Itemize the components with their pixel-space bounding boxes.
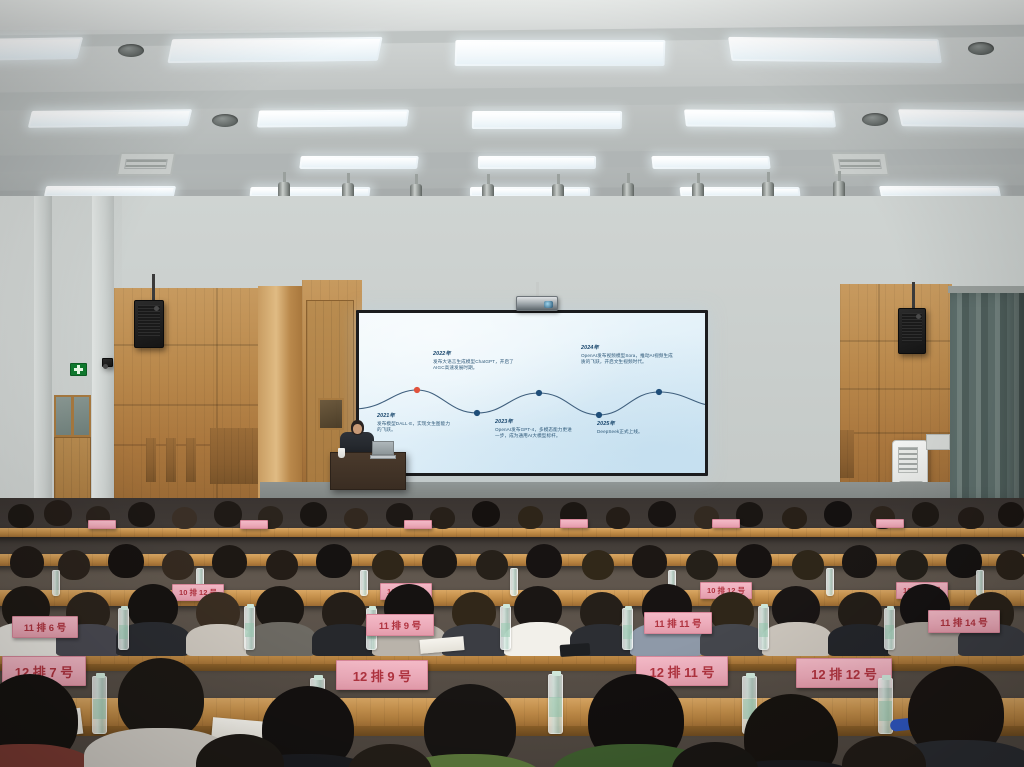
timeline-label-2025: 2025年 DeepSeek正式上线。 [597,421,677,435]
audience-head [214,501,242,527]
audience-head [266,550,298,580]
audience-head [212,545,247,578]
desk-phone [560,643,591,657]
water-bottle [510,568,518,596]
wall-speaker [898,308,926,354]
ceiling-light-panel [651,156,770,169]
audience-head [476,550,508,580]
audience-head [648,501,676,527]
ceiling-light-panel [728,37,942,63]
timeline-marker-2022 [474,410,480,416]
timeline-label-2021: 2021年 发布模型DALL·E，实现文生图能力的飞跃。 [377,413,453,433]
bottle-cap [887,606,894,610]
audience-head [372,550,404,580]
seat-placard-far [88,520,116,529]
audience-head [582,550,614,580]
wood-recess-panel [840,430,854,478]
water-bottle [244,606,255,650]
timeline-text: DeepSeek正式上线。 [597,429,677,435]
audience-head-front [842,736,926,767]
seat-placard-far [240,520,268,529]
audience-shoulders [246,622,316,656]
audience-head [108,544,144,578]
bottle-cap [121,606,128,610]
wood-recess-panel [166,438,176,482]
first-aid-sign-icon [70,363,87,376]
bottle-cap [552,671,561,676]
timeline-text: OpenAI发布视频模型Sora，推动AI视频生成质的飞跃，开启文生视频时代。 [581,353,673,365]
timeline-year: 2023年 [495,419,575,426]
timeline-curve [359,313,705,473]
bottle-cap [369,606,376,610]
bottle-label [759,623,768,637]
timeline-marker-2023 [536,390,542,396]
projector-lens-icon [544,301,553,308]
water-bottle [622,608,633,650]
seat-placard-11-14: 11 排 14 号 [928,610,1000,633]
audience-head [792,550,824,580]
ac-wall-box [926,434,950,450]
ceiling-beam [0,83,1024,111]
audience-shoulders [186,624,252,656]
ceiling-ac-vent [116,152,176,176]
bottle-label [623,625,632,639]
audience-shoulders [762,622,832,656]
ceiling-light-panel [472,111,622,129]
audience-head [518,506,543,529]
ceiling [0,0,1024,210]
seat-placard-12-9: 12 排 9 号 [336,660,428,690]
audience-head [824,501,852,527]
presenter-laptop-screen [372,441,394,455]
wall-speaker [102,358,113,367]
ceiling-light-panel [167,37,382,63]
audience-area: 10 排 12 号 10 排 12 号 10 排 12 号 10 排 12 号 [0,498,1024,767]
bottle-label [885,625,894,639]
bottle-label [549,697,562,717]
wood-seam [840,340,952,342]
water-bottle [118,608,129,650]
timeline-label-2022: 2022年 发布大语言生成模型ChatGPT，开启了AIGC高速发展时期。 [433,351,525,371]
audience-head [8,504,34,528]
audience-head [422,545,457,578]
bottle-label [119,625,128,639]
speaker-mount [912,282,915,310]
water-bottle [500,606,511,650]
wall-speaker [134,300,164,348]
ceiling-light-panel [898,109,1024,128]
bottle-label [93,699,106,719]
ceiling-speaker-icon [118,44,144,57]
timeline-text: 发布大语言生成模型ChatGPT，开启了AIGC高速发展时期。 [433,359,525,371]
ceiling-light-panel [257,109,409,127]
bottle-cap [96,673,105,678]
timeline-text: 发布模型DALL·E，实现文生图能力的飞跃。 [377,421,453,433]
audience-head [632,545,667,578]
speaker-mount [152,274,155,302]
bottle-label [879,701,892,721]
seat-placard-far [712,519,740,528]
bottle-cap [882,675,891,680]
ceiling-speaker-icon [968,42,994,55]
audience-head [736,502,763,527]
ceiling-light-panel [299,156,419,169]
seat-placard-far [876,519,904,528]
audience-head [686,550,718,580]
wall-pillar [92,196,114,516]
projection-screen: 2021年 发布模型DALL·E，实现文生图能力的飞跃。 2022年 发布大语言… [359,313,705,473]
wood-seam [840,388,952,390]
audience-head [896,550,928,580]
audience-head [162,550,194,580]
audience-head [958,507,984,529]
audience-head [172,507,197,529]
audience-head [782,507,807,529]
audience-head [10,546,44,578]
bottle-label [501,623,510,637]
ceiling-light-panel [28,109,192,128]
water-bottle [758,606,769,650]
ceiling-light-panel [455,40,666,66]
audience-head [58,550,90,580]
side-door [54,437,91,507]
timeline-text: OpenAI发布GPT-4，多模态能力更进一步，成为通用AI大模型标杆。 [495,427,575,439]
audience-head [842,545,877,578]
ceiling-light-panel [478,156,596,169]
audience-head [526,544,562,578]
water-bottle [92,676,107,734]
water-bottle [826,568,834,596]
audience-head [996,550,1024,580]
timeline-marker-2025 [656,389,662,395]
far-rows-mass [0,498,1024,554]
presenter-face [353,424,362,434]
timeline-year: 2021年 [377,413,453,420]
ceiling-light-panel [0,37,83,61]
water-bottle [52,570,60,596]
timeline-year: 2025年 [597,421,677,428]
water-bottle [548,674,563,734]
bottle-label [245,623,254,637]
timeline-year: 2024年 [581,345,673,352]
water-bottle [360,570,368,596]
timeline-marker-2024 [596,412,602,418]
ceiling-light-panel [684,109,836,127]
desk-row-08 [0,528,1024,537]
bottle-cap [314,675,323,680]
water-bottle [884,608,895,650]
audience-head [344,508,368,529]
audience-head [998,502,1024,527]
audience-head [300,502,327,527]
wood-seam [878,284,880,498]
seat-placard-far [560,519,588,528]
seat-placard-11-6: 11 排 6 号 [12,616,78,638]
seat-placard-11-11: 11 排 11 号 [644,612,712,634]
bottle-cap [625,606,632,610]
audience-head [128,502,155,527]
audience-head [44,500,72,526]
door-mullion [71,395,74,437]
curtain-rail [948,286,1024,293]
wood-recess-panel [146,438,156,482]
audience-head-front [348,744,432,767]
audience-head [472,501,500,527]
ac-grille [898,447,918,473]
ceiling-projector [516,296,558,311]
stage-door-vision-panel [318,398,344,430]
bottle-cap [746,673,755,678]
ceiling-speaker-icon [212,114,238,127]
timeline-marker-2021 [414,387,420,393]
bottle-cap [247,604,254,608]
audience-head [606,507,630,529]
audience-head [736,544,772,578]
seat-placard-11-9: 11 排 9 号 [366,614,434,636]
timeline-label-2024: 2024年 OpenAI发布视频模型Sora，推动AI视频生成质的飞跃，开启文生… [581,345,673,365]
presenter-cup [338,448,345,458]
ceiling-speaker-icon [862,113,888,126]
timeline-year: 2022年 [433,351,525,358]
timeline-label-2023: 2023年 OpenAI发布GPT-4，多模态能力更进一步，成为通用AI大模型标… [495,419,575,439]
wall-pillar [34,196,52,516]
lecture-hall-scene: 2021年 发布模型DALL·E，实现文生图能力的飞跃。 2022年 发布大语言… [0,0,1024,767]
wood-recess-panel [186,438,196,482]
audience-head [430,507,455,529]
bottle-cap [503,604,510,608]
bottle-cap [761,604,768,608]
presenter-laptop-base [370,455,396,459]
seat-placard-far [404,520,432,529]
audience-head [316,544,352,578]
audience-head [912,502,939,527]
stage-curtain [950,288,1024,506]
